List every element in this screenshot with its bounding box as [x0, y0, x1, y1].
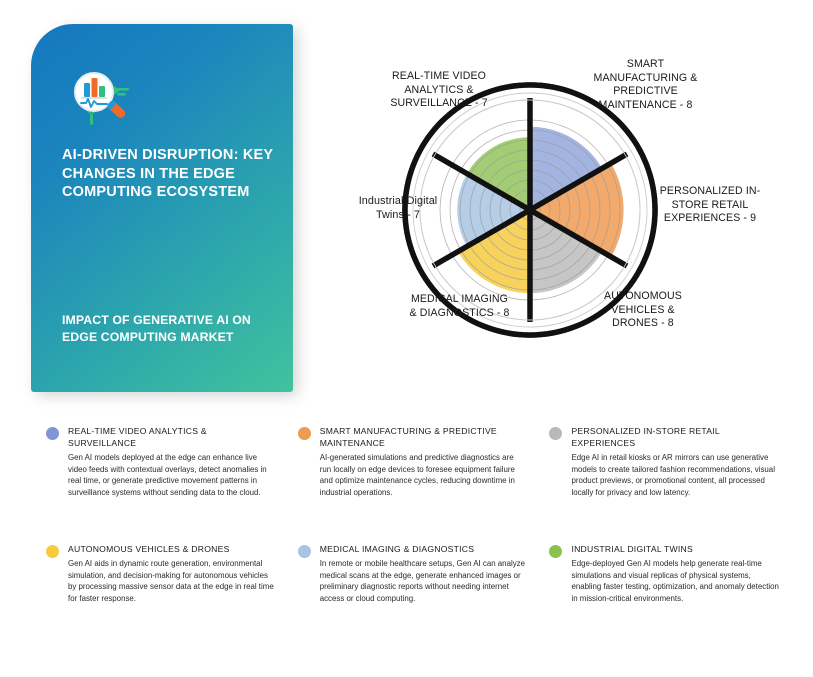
hero-subtitle: IMPACT OF GENERATIVE AI ON EDGE COMPUTIN…: [62, 312, 274, 345]
analytics-magnifier-icon: [67, 68, 141, 130]
legend-item-smart-manufacturing[interactable]: SMART MANUFACTURING & PREDICTIVE MAINTEN…: [292, 425, 526, 498]
legend-color-dot: [549, 545, 562, 558]
legend-item-body: AI-generated simulations and predictive …: [320, 452, 526, 498]
legend-item-personalized-retail[interactable]: PERSONALIZED IN-STORE RETAIL EXPERIENCES…: [543, 425, 782, 498]
legend-item-industrial-digital-twins[interactable]: INDUSTRIAL DIGITAL TWINS Edge-deployed G…: [543, 543, 782, 604]
legend-item-autonomous-vehicles[interactable]: AUTONOMOUS VEHICLES & DRONES Gen AI aids…: [40, 543, 274, 604]
legend-item-body: Edge-deployed Gen AI models help generat…: [571, 558, 782, 604]
legend-color-dot: [298, 427, 311, 440]
legend-item-medical-imaging[interactable]: MEDICAL IMAGING & DIAGNOSTICS In remote …: [292, 543, 526, 604]
legend-item-title: SMART MANUFACTURING & PREDICTIVE MAINTEN…: [320, 425, 526, 449]
legend-item-title: PERSONALIZED IN-STORE RETAIL EXPERIENCES: [571, 425, 782, 449]
hero-card: AI-DRIVEN DISRUPTION: KEY CHANGES IN THE…: [31, 24, 293, 392]
chart-label-smart-manufacturing: SMART MANUFACTURING & PREDICTIVE MAINTEN…: [568, 58, 723, 112]
hero-title: AI-DRIVEN DISRUPTION: KEY CHANGES IN THE…: [62, 146, 277, 202]
legend-item-real-time-video[interactable]: REAL-TIME VIDEO ANALYTICS & SURVEILLANCE…: [40, 425, 274, 498]
radial-pie-chart: REAL-TIME VIDEO ANALYTICS & SURVEILLANCE…: [325, 40, 805, 380]
legend-item-title: MEDICAL IMAGING & DIAGNOSTICS: [320, 543, 526, 555]
legend-row-bottom: AUTONOMOUS VEHICLES & DRONES Gen AI aids…: [40, 543, 800, 604]
chart-label-medical-imaging: MEDICAL IMAGING & DIAGNOSTICS - 8: [387, 293, 532, 320]
legend-color-dot: [46, 545, 59, 558]
legend-item-title: AUTONOMOUS VEHICLES & DRONES: [68, 543, 274, 555]
legend-item-body: Gen AI aids in dynamic route generation,…: [68, 558, 274, 604]
chart-label-real-time-video: REAL-TIME VIDEO ANALYTICS & SURVEILLANCE…: [369, 70, 509, 111]
legend: REAL-TIME VIDEO ANALYTICS & SURVEILLANCE…: [40, 425, 800, 665]
legend-item-title: REAL-TIME VIDEO ANALYTICS & SURVEILLANCE: [68, 425, 274, 449]
legend-color-dot: [46, 427, 59, 440]
legend-color-dot: [549, 427, 562, 440]
legend-color-dot: [298, 545, 311, 558]
chart-label-industrial-digital-twins: Industrial Digital Twins - 7: [337, 195, 459, 222]
chart-label-personalized-retail: PERSONALIZED IN- STORE RETAIL EXPERIENCE…: [630, 185, 790, 226]
legend-item-body: Gen AI models deployed at the edge can e…: [68, 452, 274, 498]
infographic-canvas: AI-DRIVEN DISRUPTION: KEY CHANGES IN THE…: [0, 0, 813, 677]
legend-item-body: In remote or mobile healthcare setups, G…: [320, 558, 526, 604]
chart-label-autonomous-vehicles: AUTONOMOUS VEHICLES & DRONES - 8: [578, 290, 708, 331]
legend-row-top: REAL-TIME VIDEO ANALYTICS & SURVEILLANCE…: [40, 425, 800, 498]
legend-item-title: INDUSTRIAL DIGITAL TWINS: [571, 543, 782, 555]
legend-item-body: Edge AI in retail kiosks or AR mirrors c…: [571, 452, 782, 498]
